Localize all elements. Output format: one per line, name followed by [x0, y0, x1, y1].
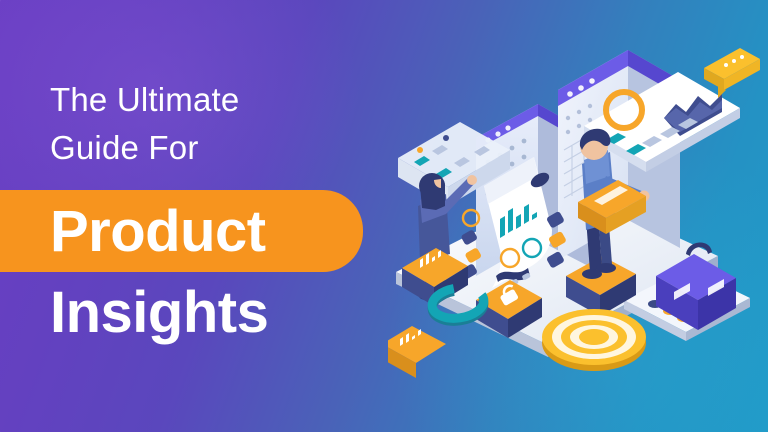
- copy-block: The Ultimate Guide For Product Insights: [0, 0, 400, 432]
- promo-banner: The Ultimate Guide For Product Insights: [0, 0, 768, 432]
- headline-line-1: Product: [50, 194, 266, 268]
- chat-bubble-icon: [704, 48, 760, 98]
- hero-illustration: [388, 0, 768, 432]
- isometric-analytics-scene: [388, 0, 768, 432]
- target-bullseye: [542, 309, 646, 371]
- eyebrow-text: The Ultimate Guide For: [50, 76, 370, 172]
- headline-line-2: Insights: [50, 281, 268, 345]
